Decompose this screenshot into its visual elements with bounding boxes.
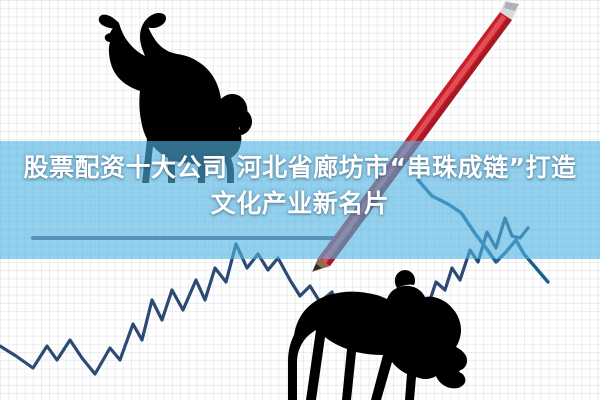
bear-silhouette bbox=[288, 270, 467, 400]
image-canvas: 股票配资十大公司 河北省廊坊市“串珠成链”打造文化产业新名片 bbox=[0, 0, 600, 400]
headline-text: 股票配资十大公司 河北省廊坊市“串珠成链”打造文化产业新名片 bbox=[0, 150, 600, 223]
